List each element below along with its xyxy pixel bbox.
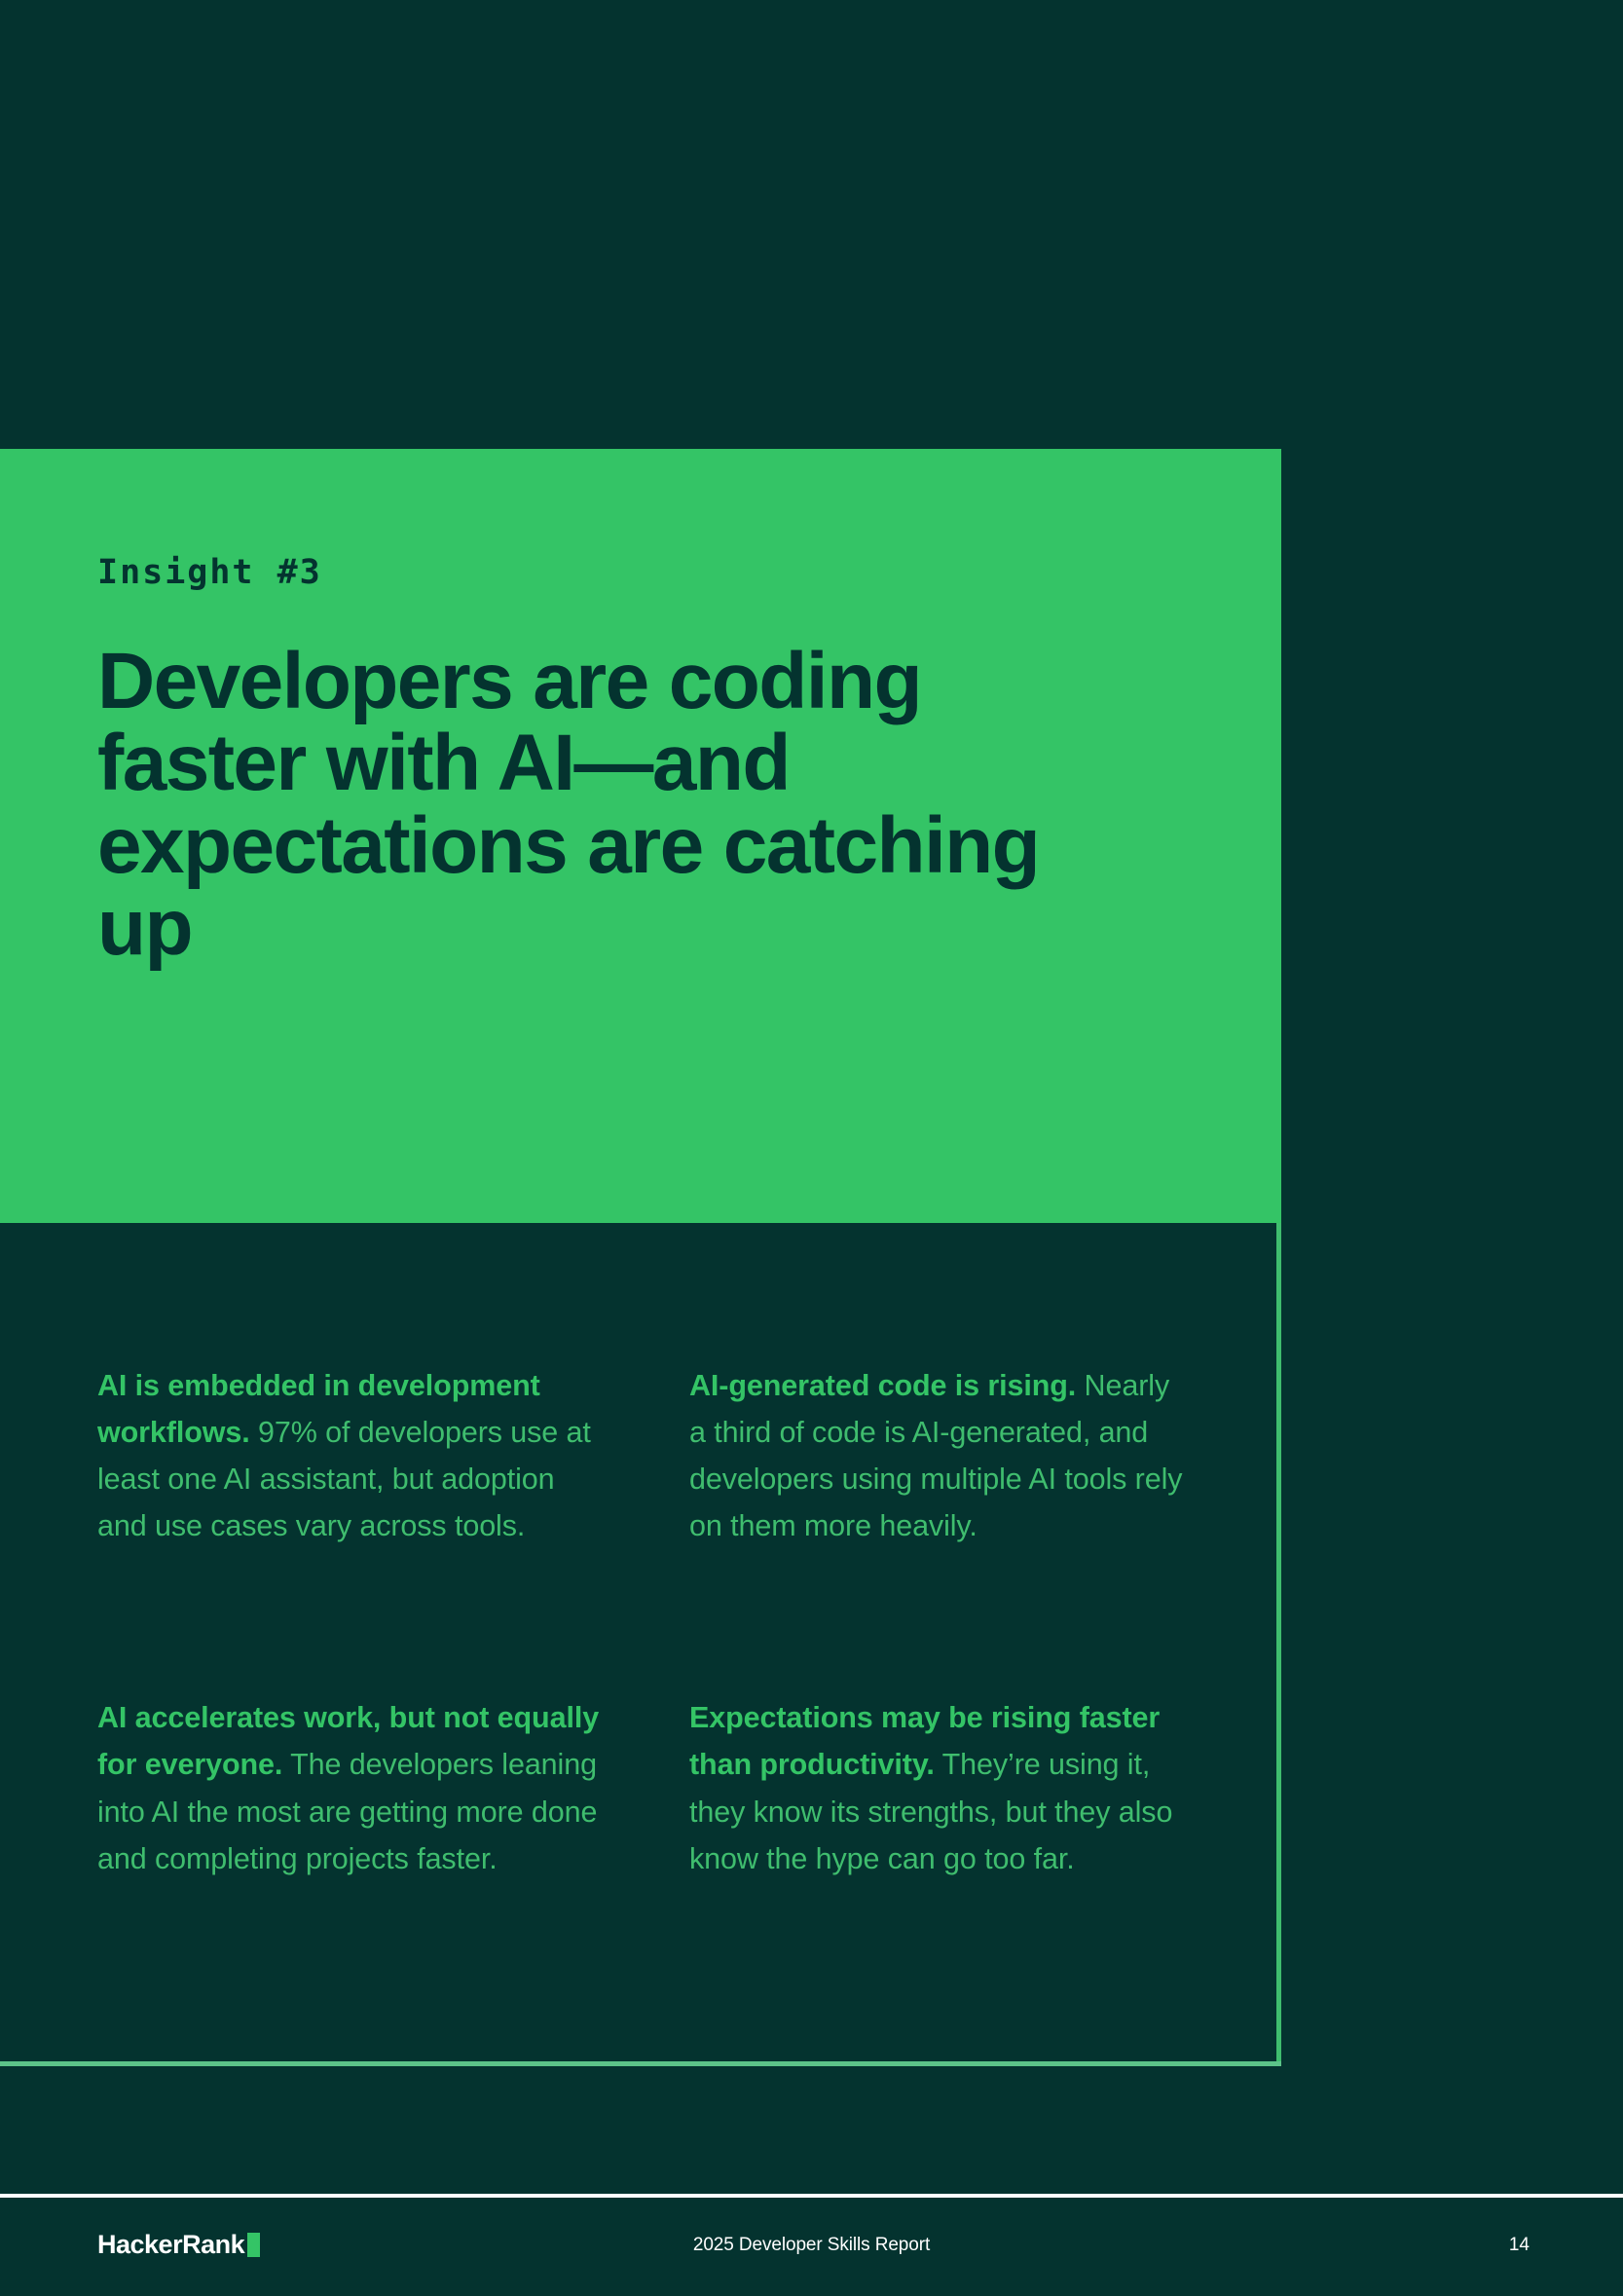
page-footer: HackerRank 2025 Developer Skills Report …	[0, 2194, 1623, 2296]
summary-item-ai-generated-code: AI-generated code is rising. Nearly a th…	[689, 1362, 1188, 1550]
summary-lead: AI-generated code is rising.	[689, 1369, 1076, 1402]
frame-horizontal-rule	[0, 2061, 1281, 2066]
frame-vertical-rule	[1276, 1223, 1281, 2066]
page-title: Developers are coding faster with AI—and…	[97, 641, 1129, 970]
hero-content: Insight #3 Developers are coding faster …	[97, 556, 1223, 970]
insight-summary-grid: AI is embedded in development workflows.…	[97, 1332, 1188, 1912]
footer-report-title: 2025 Developer Skills Report	[0, 2235, 1623, 2256]
summary-item-ai-accelerates-work: AI accelerates work, but not equally for…	[97, 1694, 604, 1882]
page-number: 14	[1509, 2235, 1530, 2256]
insight-kicker: Insight #3	[97, 556, 1223, 590]
insight-hero-panel: Insight #3 Developers are coding faster …	[0, 449, 1281, 1223]
summary-item-expectations-rising: Expectations may be rising faster than p…	[689, 1694, 1188, 1882]
summary-item-ai-embedded: AI is embedded in development workflows.…	[97, 1362, 604, 1550]
